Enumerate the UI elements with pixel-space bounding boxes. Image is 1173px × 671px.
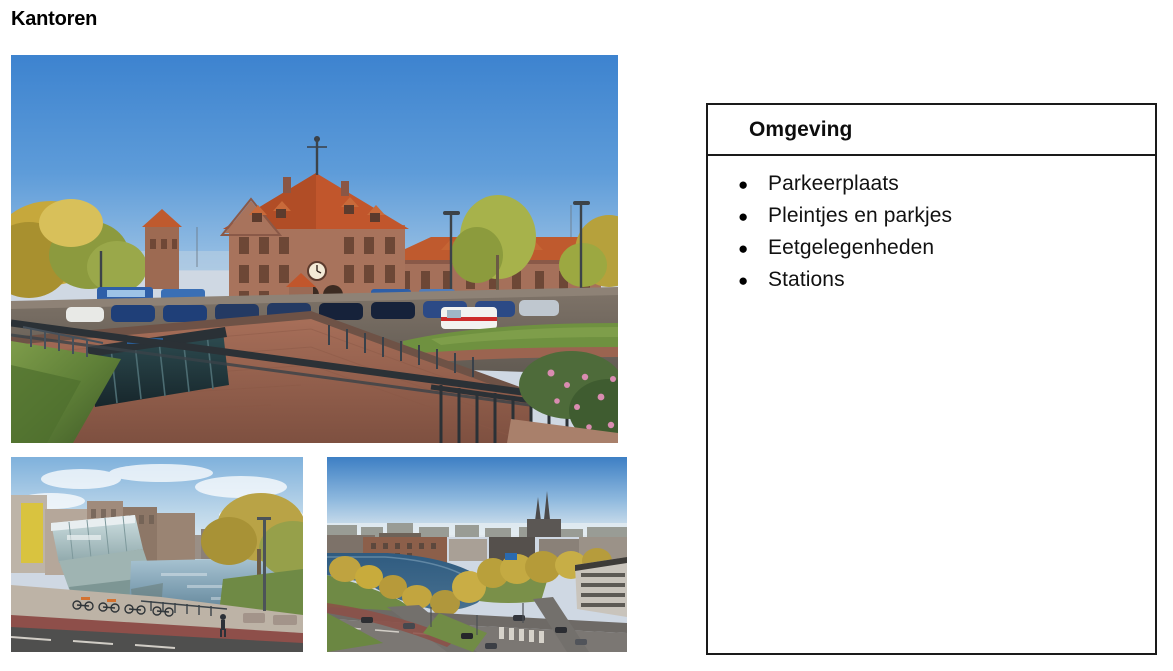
omgeving-panel: Omgeving ● Parkeerplaats ● Pleintjes en … (706, 103, 1157, 655)
list-item: ● Eetgelegenheden (708, 232, 1155, 264)
omgeving-list: ● Parkeerplaats ● Pleintjes en parkjes ●… (708, 156, 1155, 296)
station-square-photo (11, 55, 618, 443)
aerial-city-illustration (327, 457, 627, 652)
canal-building-illustration (11, 457, 303, 652)
list-item-label: Stations (768, 264, 845, 295)
page-title: Kantoren (11, 5, 97, 33)
office-block (575, 557, 627, 617)
omgeving-title: Omgeving (749, 118, 852, 142)
list-item-label: Parkeerplaats (768, 168, 899, 199)
bullet-icon: ● (738, 233, 768, 264)
aerial-city-photo (327, 457, 627, 652)
list-item-label: Pleintjes en parkjes (768, 200, 952, 231)
bullet-icon: ● (738, 201, 768, 232)
white-van (441, 307, 497, 329)
station-square-illustration (11, 55, 618, 443)
list-item: ● Parkeerplaats (708, 168, 1155, 200)
bullet-icon: ● (738, 169, 768, 200)
canal-building-photo (11, 457, 303, 652)
list-item: ● Stations (708, 264, 1155, 296)
list-item: ● Pleintjes en parkjes (708, 200, 1155, 232)
list-item-label: Eetgelegenheden (768, 232, 934, 263)
omgeving-panel-header: Omgeving (708, 105, 1155, 156)
direction-sign (505, 553, 517, 560)
bullet-icon: ● (738, 265, 768, 296)
